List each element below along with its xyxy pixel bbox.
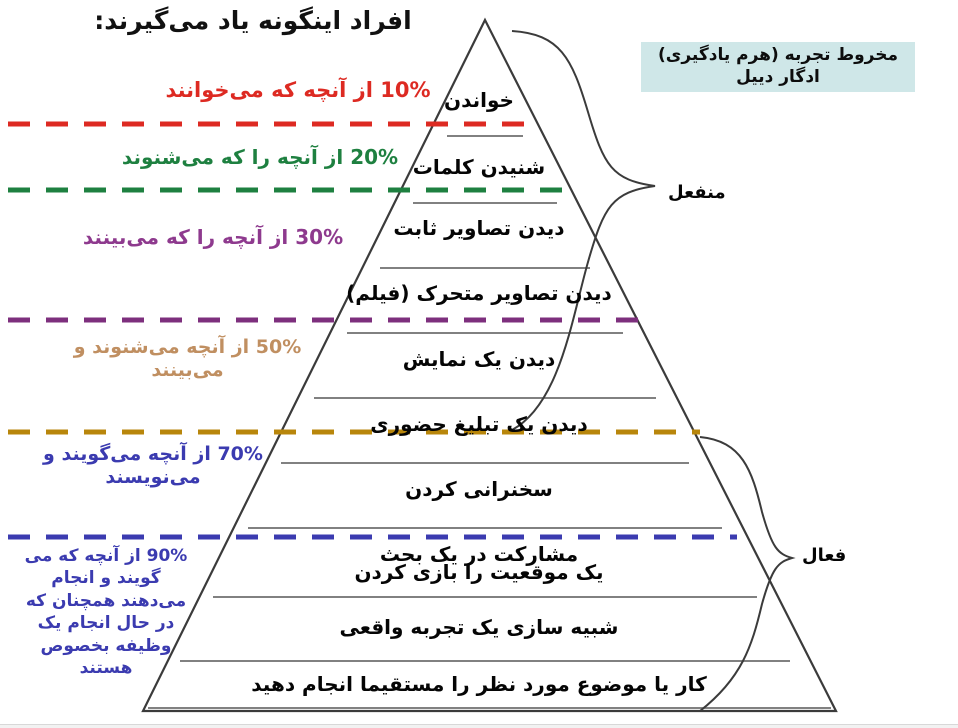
pyramid-level-5: دیدن یک نمایش	[0, 347, 958, 371]
pyramid-level-2: شنیدن کلمات	[0, 155, 958, 179]
pyramid-level-11: کار یا موضوع مورد نظر را مستقیما انجام د…	[0, 672, 958, 696]
pyramid-level-3: دیدن تصاویر ثابت	[0, 216, 958, 240]
pyramid-level-7: سخنرانی کردن	[0, 477, 958, 501]
pyramid-level-4: دیدن تصاویر متحرک (فیلم)	[0, 281, 958, 305]
title-card: مخروط تجربه (هرم یادگیری) ادگار دییل	[641, 42, 915, 92]
pyramid-level-10: شبیه سازی یک تجربه واقعی	[0, 615, 958, 639]
brace-label-active: فعال	[802, 545, 846, 566]
pyramid-level-6: دیدن یک تبلیغ حضوری	[0, 412, 958, 436]
title-card-line2: ادگار دییل	[736, 67, 820, 89]
page-headline: افراد اینگونه یاد می‌گیرند:	[43, 6, 463, 35]
title-card-line1: مخروط تجربه (هرم یادگیری)	[658, 45, 898, 67]
brace-label-passive: منفعل	[668, 182, 726, 203]
pyramid-level-1: خواندن	[0, 88, 958, 112]
cone-of-experience-diagram: افراد اینگونه یاد می‌گیرند: مخروط تجربه …	[0, 0, 958, 728]
